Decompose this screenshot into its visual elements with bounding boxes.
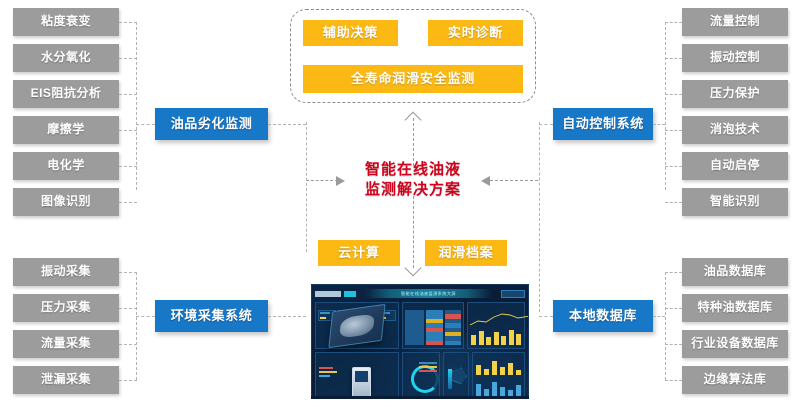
- connector-spine-to-hub3: [539, 124, 553, 125]
- device-legend: [319, 367, 337, 380]
- leaf-defoaming-technology[interactable]: 消泡技术: [682, 116, 788, 144]
- dashboard-logo-accent: [344, 291, 356, 297]
- connector-leaf-3-6: [665, 202, 682, 203]
- dashboard-header: 智能在线油液监测系统大屏: [315, 288, 525, 299]
- page-title: 智能在线油液 监测解决方案: [350, 160, 476, 201]
- dashboard-row-1: [315, 302, 525, 349]
- dashboard-panel-device-view[interactable]: [315, 352, 399, 399]
- trend-bar-chart: [471, 329, 521, 345]
- hub-oil-degradation-monitoring[interactable]: 油品劣化监测: [155, 108, 268, 140]
- connector-left-spine-to-title: [306, 180, 338, 181]
- leaf-automatic-start-stop[interactable]: 自动启停: [682, 152, 788, 180]
- leaf-electrochemistry[interactable]: 电化学: [13, 152, 119, 180]
- dashboard-title: 智能在线油液监测系统大屏: [365, 289, 492, 298]
- connector-leaf-2-4: [119, 380, 137, 381]
- yellow-node-full-life-lubrication-safety-monitoring[interactable]: 全寿命润滑安全监测: [303, 65, 523, 93]
- handheld-device-image: [352, 367, 371, 399]
- leaf-special-oil-database[interactable]: 特种油数据库: [682, 294, 788, 322]
- leaf-tribology[interactable]: 摩擦学: [13, 116, 119, 144]
- arrow-left-icon: [481, 176, 490, 186]
- dashboard-panel-bar-charts[interactable]: [472, 352, 525, 399]
- dashboard-table: [405, 310, 461, 345]
- arrow-right-icon: [336, 176, 345, 186]
- dashboard-panel-trend-charts[interactable]: [467, 302, 525, 349]
- bar-chart-lower: [476, 381, 521, 396]
- connector-leaf-3-2: [665, 58, 682, 59]
- rail-branch-1: [136, 22, 137, 190]
- leaf-image-recognition[interactable]: 图像识别: [13, 188, 119, 216]
- connector-leaf-4-2: [665, 308, 682, 309]
- connector-leaf-1-2: [119, 58, 137, 59]
- connector-hub4-to-rail: [653, 316, 665, 317]
- leaf-industry-equipment-database[interactable]: 行业设备数据库: [682, 330, 788, 358]
- connector-leaf-3-5: [665, 166, 682, 167]
- connector-rail2-to-hub: [136, 316, 155, 317]
- leaf-edge-algorithm-library[interactable]: 边缘算法库: [682, 366, 788, 394]
- connector-leaf-2-2: [119, 308, 137, 309]
- diagram-canvas: 辅助决策 实时诊断 全寿命润滑安全监测 智能在线油液 监测解决方案 云计算 润滑…: [0, 0, 800, 407]
- equipment-3d-model: [328, 304, 385, 348]
- connector-spine-to-hub4: [539, 316, 553, 317]
- panel-title: [405, 355, 437, 360]
- leaf-eis-impedance-analysis[interactable]: EIS阻抗分析: [13, 80, 119, 108]
- leaf-pressure-acquisition[interactable]: 压力采集: [13, 294, 119, 322]
- arrow-up-icon: [405, 112, 422, 129]
- leaf-moisture-oxidation[interactable]: 水分氧化: [13, 44, 119, 72]
- rail-branch-3: [665, 22, 666, 190]
- leaf-intelligent-recognition[interactable]: 智能识别: [682, 188, 788, 216]
- connector-leaf-3-4: [665, 130, 682, 131]
- yellow-node-realtime-diagnosis[interactable]: 实时诊断: [428, 20, 523, 46]
- leaf-oil-database[interactable]: 油品数据库: [682, 258, 788, 286]
- hub-local-database[interactable]: 本地数据库: [553, 300, 653, 332]
- dashboard-panel-data-table[interactable]: [402, 302, 464, 349]
- gauge-legend: [419, 362, 437, 375]
- dashboard-panel-gauge[interactable]: [402, 352, 440, 399]
- connector-leaf-4-1: [665, 272, 682, 273]
- leaf-vibration-acquisition[interactable]: 振动采集: [13, 258, 119, 286]
- connector-leaf-1-3: [119, 94, 137, 95]
- panel-title: [318, 355, 396, 360]
- connector-leaf-4-4: [665, 380, 682, 381]
- yellow-node-lubrication-archive[interactable]: 润滑档案: [425, 240, 507, 266]
- connector-leaf-1-1: [119, 22, 137, 23]
- connector-hub1-to-spine: [268, 124, 306, 125]
- dashboard-footer-strip: [311, 396, 529, 399]
- leaf-vibration-control[interactable]: 振动控制: [682, 44, 788, 72]
- leaf-pressure-protection[interactable]: 压力保护: [682, 80, 788, 108]
- vertical-gauge: [448, 369, 452, 389]
- dashboard-screenshot[interactable]: 智能在线油液监测系统大屏: [311, 284, 529, 399]
- connector-hub2-to-spine: [268, 316, 306, 317]
- connector-leaf-2-3: [119, 344, 137, 345]
- leaf-leakage-acquisition[interactable]: 泄漏采集: [13, 366, 119, 394]
- page-title-line-1: 智能在线油液: [350, 160, 476, 180]
- table-row: [405, 341, 461, 345]
- dashboard-panel-radar[interactable]: [443, 352, 469, 399]
- arrow-down-icon: [405, 260, 422, 277]
- spine-right-vertical: [539, 122, 540, 312]
- rail-branch-4: [665, 272, 666, 380]
- yellow-node-cloud-computing[interactable]: 云计算: [318, 240, 400, 266]
- dashboard-panel-3d-model[interactable]: [315, 302, 399, 349]
- connector-leaf-1-5: [119, 166, 137, 167]
- connector-title-to-dashboard: [413, 196, 414, 268]
- dashboard-row-2: [315, 352, 525, 399]
- connector-leaf-3-1: [665, 22, 682, 23]
- hub-environment-acquisition-system[interactable]: 环境采集系统: [155, 300, 268, 332]
- leaf-viscosity-decay[interactable]: 粘度衰变: [13, 8, 119, 36]
- connector-leaf-1-6: [119, 202, 137, 203]
- yellow-node-decision-support[interactable]: 辅助决策: [303, 20, 398, 46]
- panel-title: [446, 355, 466, 360]
- connector-leaf-4-3: [665, 344, 682, 345]
- trend-line-chart: [470, 309, 529, 329]
- connector-rail1-to-hub: [136, 124, 155, 125]
- rail-branch-2: [136, 272, 137, 380]
- dashboard-title-bar: 智能在线油液监测系统大屏: [365, 289, 492, 298]
- connector-leaf-1-4: [119, 130, 137, 131]
- hub-automatic-control-system[interactable]: 自动控制系统: [553, 108, 653, 140]
- bar-chart-upper: [476, 360, 521, 375]
- spine-left-vertical: [306, 122, 307, 252]
- connector-hub3-to-rail: [653, 124, 665, 125]
- connector-leaf-3-3: [665, 94, 682, 95]
- connector-right-spine-to-title: [490, 180, 538, 181]
- connector-leaf-2-1: [119, 272, 137, 273]
- dashboard-header-chip: [501, 290, 525, 298]
- leaf-flow-control[interactable]: 流量控制: [682, 8, 788, 36]
- dashboard-logo: [315, 291, 341, 297]
- leaf-flow-acquisition[interactable]: 流量采集: [13, 330, 119, 358]
